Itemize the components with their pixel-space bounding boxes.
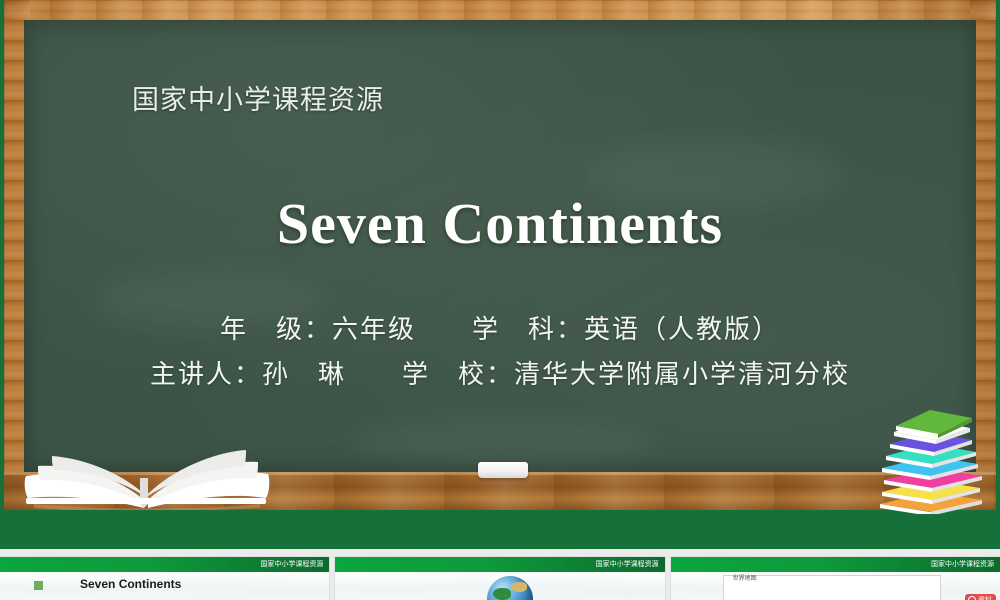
filmstrip-divider xyxy=(0,549,1000,557)
chalk-smudge xyxy=(354,420,654,465)
stacked-books-icon xyxy=(872,404,990,514)
badge-label: 资料 xyxy=(978,594,992,600)
thumbnail-brand-label: 国家中小学课程资源 xyxy=(260,559,323,569)
slide-floor xyxy=(0,510,1000,549)
thumbnail-title: Seven Continents xyxy=(80,577,181,591)
badge-dot-icon xyxy=(968,596,976,600)
slide-thumbnail-strip[interactable]: 国家中小学课程资源 Seven Continents 国家中小学课程资源 xyxy=(0,557,1000,600)
thumbnail-header-bar: 国家中小学课程资源 xyxy=(335,557,664,572)
current-slide[interactable]: 国家中小学课程资源 Seven Continents 年 级：六年级 学 科：英… xyxy=(0,0,1000,549)
slide-thumbnail-1[interactable]: 国家中小学课程资源 Seven Continents xyxy=(0,557,329,600)
thumbnail-body xyxy=(335,572,664,600)
frame-grain-top xyxy=(4,0,996,20)
slide-meta-grade-subject: 年 级：六年级 学 科：英语（人教版） xyxy=(0,309,1000,346)
presentation-viewer: 国家中小学课程资源 Seven Continents 年 级：六年级 学 科：英… xyxy=(0,0,1000,600)
resource-watermark-badge: 资料 xyxy=(965,594,996,600)
thumbnail-title: 世界地图 xyxy=(733,573,757,582)
thumbnail-body: 世界地图 资料 xyxy=(671,572,1000,600)
thumbnail-brand-label: 国家中小学课程资源 xyxy=(931,559,994,569)
globe-landmass xyxy=(511,582,527,592)
slide-thumbnail-2[interactable]: 国家中小学课程资源 xyxy=(335,557,664,600)
globe-landmass xyxy=(493,588,511,600)
slide-title: Seven Continents xyxy=(0,190,1000,257)
thumbnail-brand-label: 国家中小学课程资源 xyxy=(596,559,659,569)
slide-thumbnail-3[interactable]: 国家中小学课程资源 世界地图 资料 xyxy=(671,557,1000,600)
course-brand-label: 国家中小学课程资源 xyxy=(132,78,384,117)
thumbnail-header-bar: 国家中小学课程资源 xyxy=(0,557,329,572)
thumbnail-body: Seven Continents xyxy=(0,572,329,600)
chalk-eraser-icon xyxy=(478,462,528,478)
open-book-icon xyxy=(16,418,276,510)
slide-meta-teacher-school: 主讲人：孙 琳 学 校：清华大学附属小学清河分校 xyxy=(0,354,1000,391)
bullet-marker-icon xyxy=(34,581,43,590)
thumbnail-header-bar: 国家中小学课程资源 xyxy=(671,557,1000,572)
